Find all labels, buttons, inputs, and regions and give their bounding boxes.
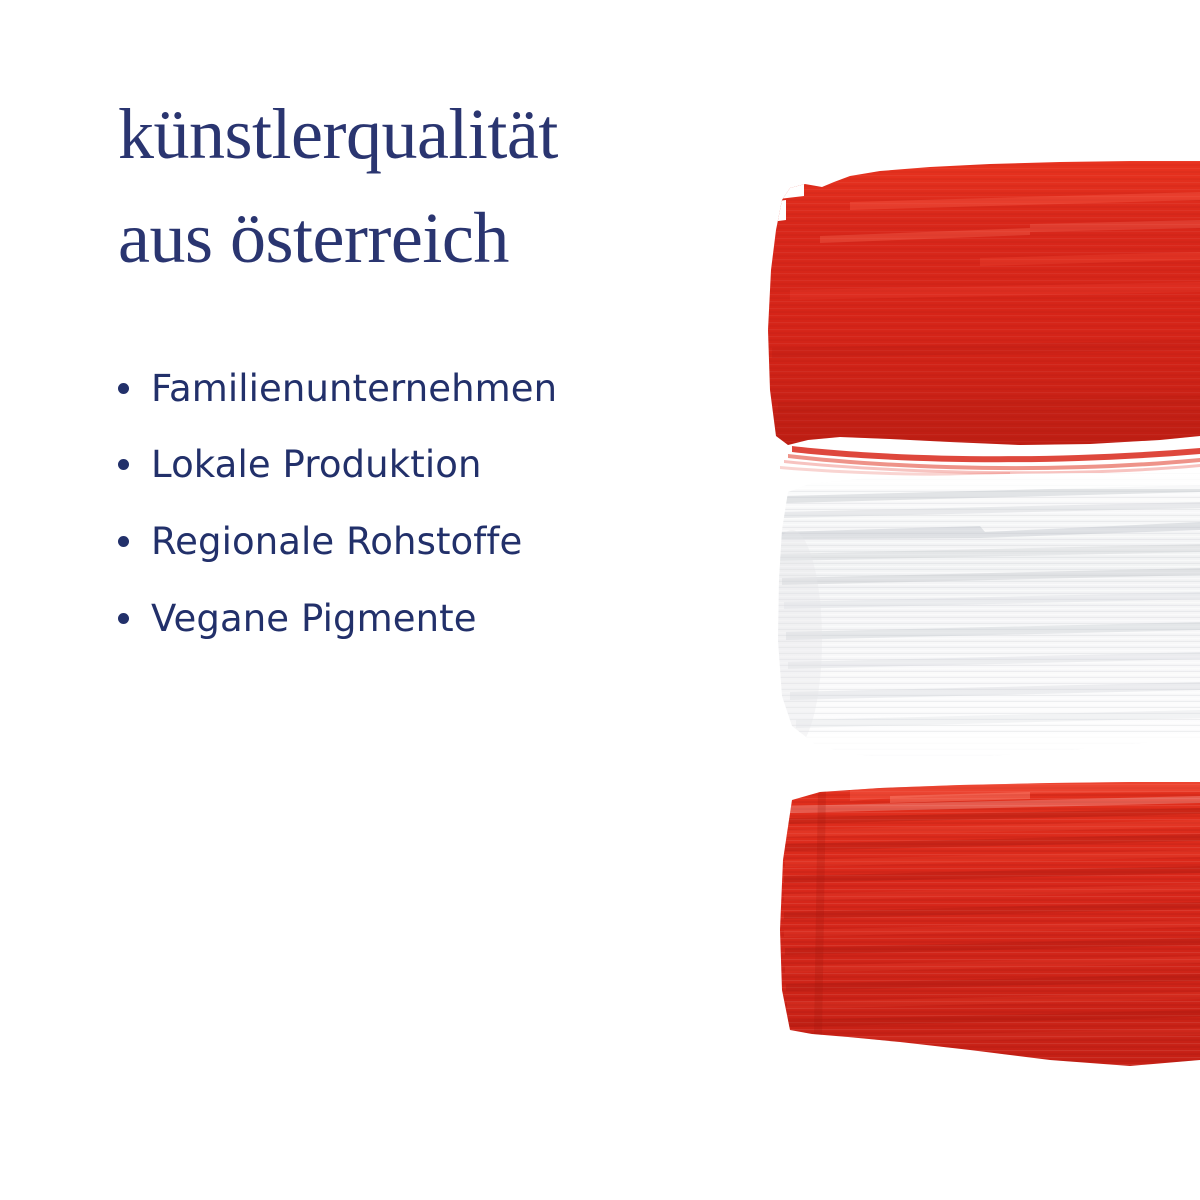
bullet-dot-icon — [118, 536, 129, 547]
bullet-dot-icon — [118, 459, 129, 470]
bullet-dot-icon — [118, 383, 129, 394]
top-red-stroke-wisps — [780, 446, 1200, 476]
list-item: Lokale Produktion — [118, 445, 778, 486]
paint-strokes-svg — [730, 140, 1200, 1100]
page-title: künstlerqualität aus österreich — [118, 82, 778, 291]
bullet-dot-icon — [118, 613, 129, 624]
poster-canvas: künstlerqualität aus österreich Familien… — [0, 0, 1200, 1200]
feature-label-regionale-rohstoffe: Regionale Rohstoffe — [151, 522, 522, 563]
feature-label-familienunternehmen: Familienunternehmen — [151, 369, 557, 410]
middle-white-stroke — [730, 460, 1200, 780]
list-item: Vegane Pigmente — [118, 599, 778, 640]
austrian-flag-paint-strokes-image — [730, 140, 1200, 1100]
feature-label-vegane-pigmente: Vegane Pigmente — [151, 599, 477, 640]
feature-list: Familienunternehmen Lokale Produktion Re… — [118, 369, 778, 640]
feature-label-lokale-produktion: Lokale Produktion — [151, 445, 482, 486]
list-item: Regionale Rohstoffe — [118, 522, 778, 563]
text-column: künstlerqualität aus österreich Familien… — [118, 82, 778, 640]
bottom-red-stroke — [730, 770, 1200, 1080]
list-item: Familienunternehmen — [118, 369, 778, 410]
